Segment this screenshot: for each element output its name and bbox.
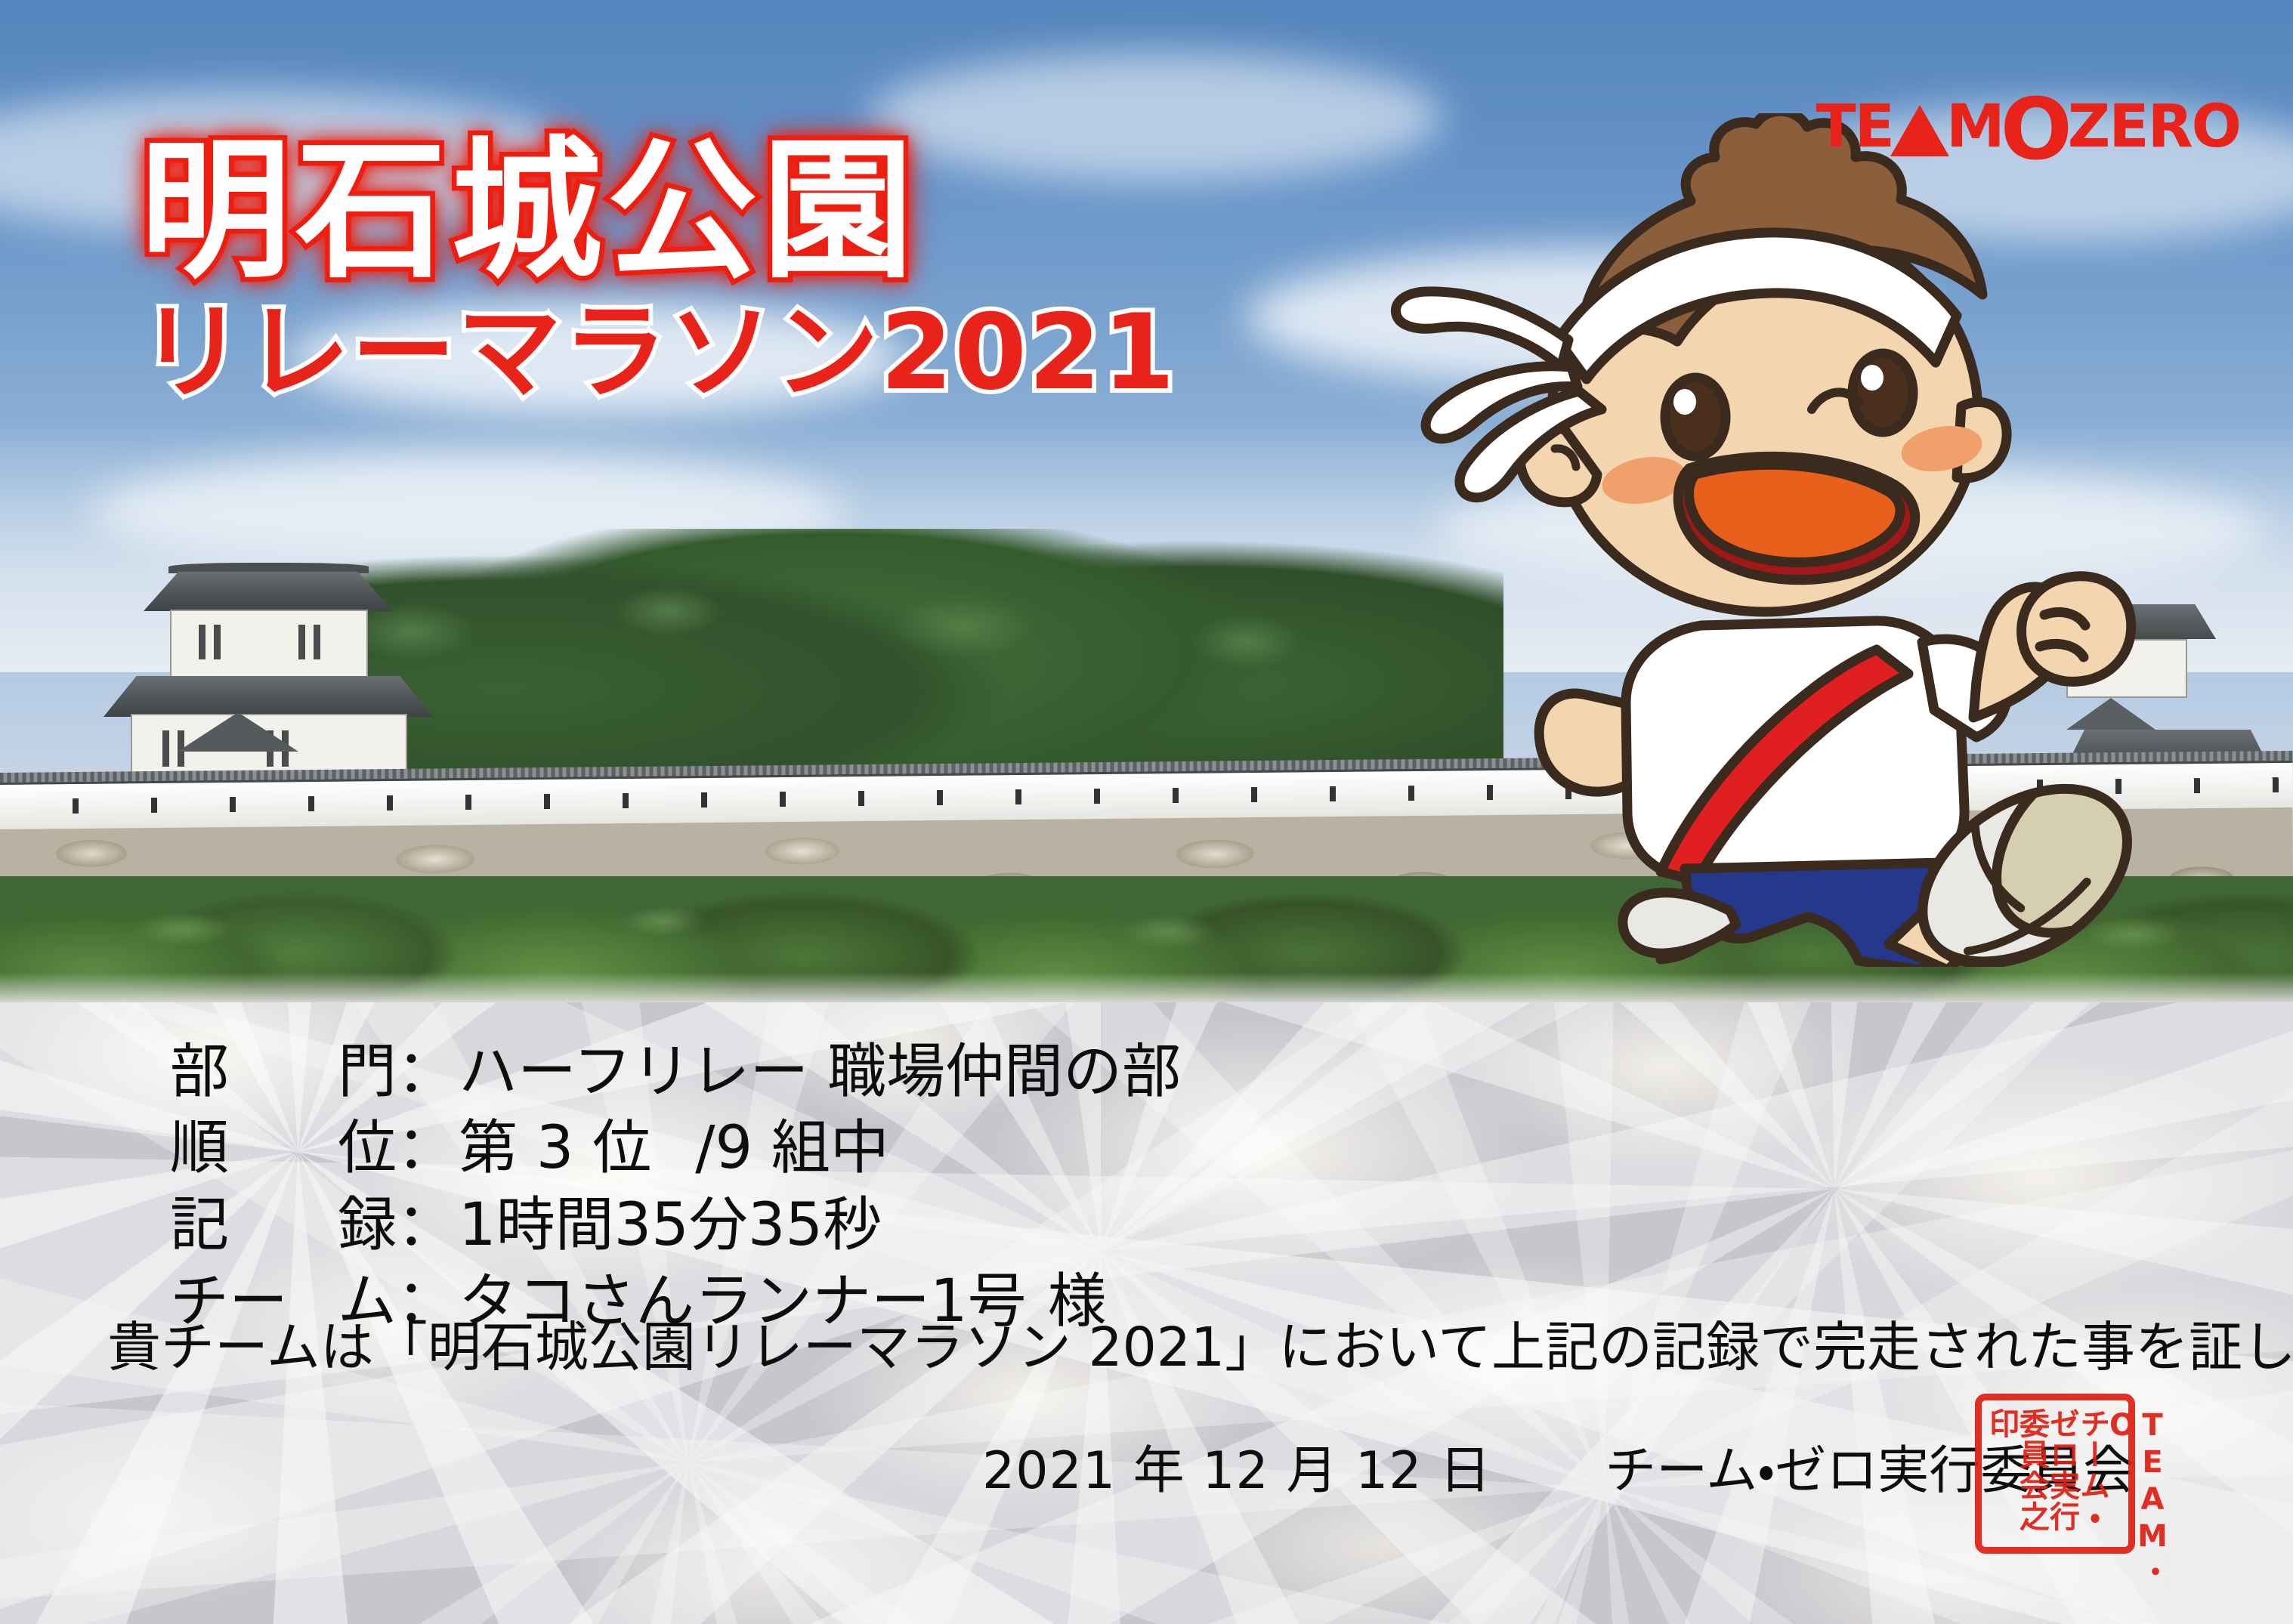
running-boy-mascot [1360, 113, 2146, 967]
label-time: 記 録 [170, 1187, 397, 1264]
triangle-a-icon [1890, 105, 1949, 156]
logo-big-o-icon: O [2001, 88, 2071, 172]
certificate-page: 明石城公園 リレーマラソン2021 TE M O ZERO [0, 0, 2293, 1624]
logo-text-zero: ZERO [2068, 97, 2240, 156]
official-seal-stamp: TEAM・O チーム・ゼロ実行 委員会之印 [1975, 1394, 2135, 1554]
event-title-block: 明石城公園 リレーマラソン2021 [140, 136, 1176, 405]
colon-category: ： [397, 1034, 456, 1110]
value-time: 1時間35分35秒 [459, 1187, 882, 1264]
colon-rank: ： [397, 1110, 456, 1187]
label-rank: 順 位 [170, 1110, 397, 1187]
certification-statement: 貴チームは「明石城公園リレーマラソン 2021」において上記の記録で完走された事… [107, 1315, 2293, 1379]
result-details-list: 部 門 ： ハーフリレー 職場仲間の部 順 位 ： 第 3 位 /9 組中 [170, 1034, 1181, 1341]
logo-text-te: TE [1816, 97, 1893, 156]
seal-column-3: 委員会之印 [1986, 1408, 2047, 1539]
seal-column-1: TEAM・O [2107, 1408, 2168, 1539]
signature-line: 2021 年 12 月 12 日 チーム・ゼロ実行委員会 [982, 1440, 2134, 1502]
issue-date: 2021 年 12 月 12 日 [982, 1440, 1491, 1502]
result-row-category: 部 門 ： ハーフリレー 職場仲間の部 [170, 1034, 1181, 1110]
team-zero-logo: TE M O ZERO [1816, 85, 2240, 169]
colon-time: ： [397, 1187, 456, 1264]
event-title-main: 明石城公園 [140, 136, 1176, 287]
logo-text-m: M [1946, 97, 2004, 156]
label-category: 部 門 [170, 1034, 397, 1110]
result-row-time: 記 録 ： 1時間35分35秒 [170, 1187, 1181, 1264]
value-category: ハーフリレー 職場仲間の部 [459, 1034, 1181, 1110]
seal-column-2: チーム・ゼロ実行 [2047, 1408, 2107, 1539]
event-title-sub: リレーマラソン2021 [140, 301, 1176, 405]
certificate-panel: 部 門 ： ハーフリレー 職場仲間の部 順 位 ： 第 3 位 /9 組中 [0, 1002, 2293, 1624]
value-rank-total: /9 組中 [695, 1110, 889, 1187]
photo-bottom-fade [0, 972, 2293, 1002]
result-row-rank: 順 位 ： 第 3 位 /9 組中 [170, 1110, 1181, 1187]
value-rank: 第 3 位 [459, 1110, 651, 1187]
